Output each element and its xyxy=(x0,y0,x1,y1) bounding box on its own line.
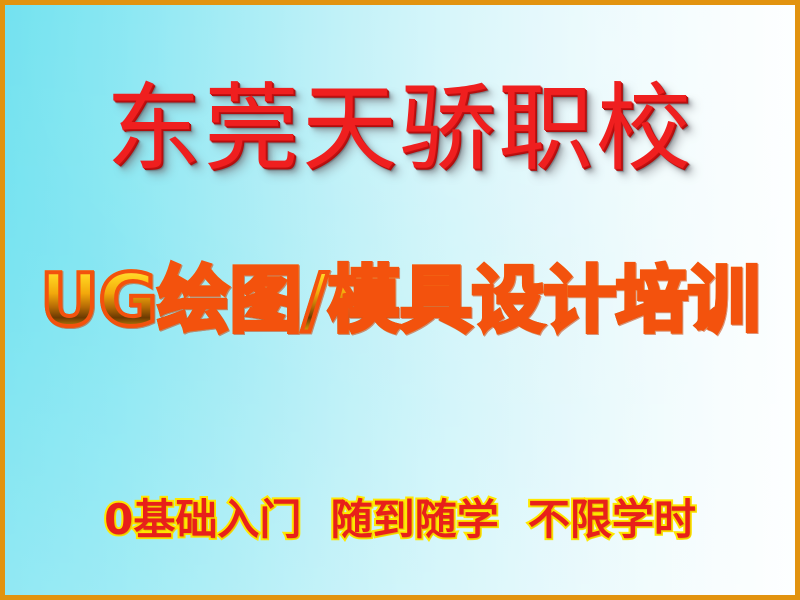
poster-subtitle-text: UG绘图/模具设计培训 xyxy=(40,263,760,339)
poster-main-title: 东莞天骄职校 xyxy=(5,81,795,178)
poster-tagline: 0基础入门 随到随学 不限学时 xyxy=(5,497,795,543)
poster-content: 东莞天骄职校 UG绘图/模具设计培训 0基础入门 随到随学 不限学时 xyxy=(5,5,795,595)
poster-slide: 东莞天骄职校 UG绘图/模具设计培训 0基础入门 随到随学 不限学时 xyxy=(0,0,800,600)
poster-subtitle: UG绘图/模具设计培训 xyxy=(5,263,795,339)
